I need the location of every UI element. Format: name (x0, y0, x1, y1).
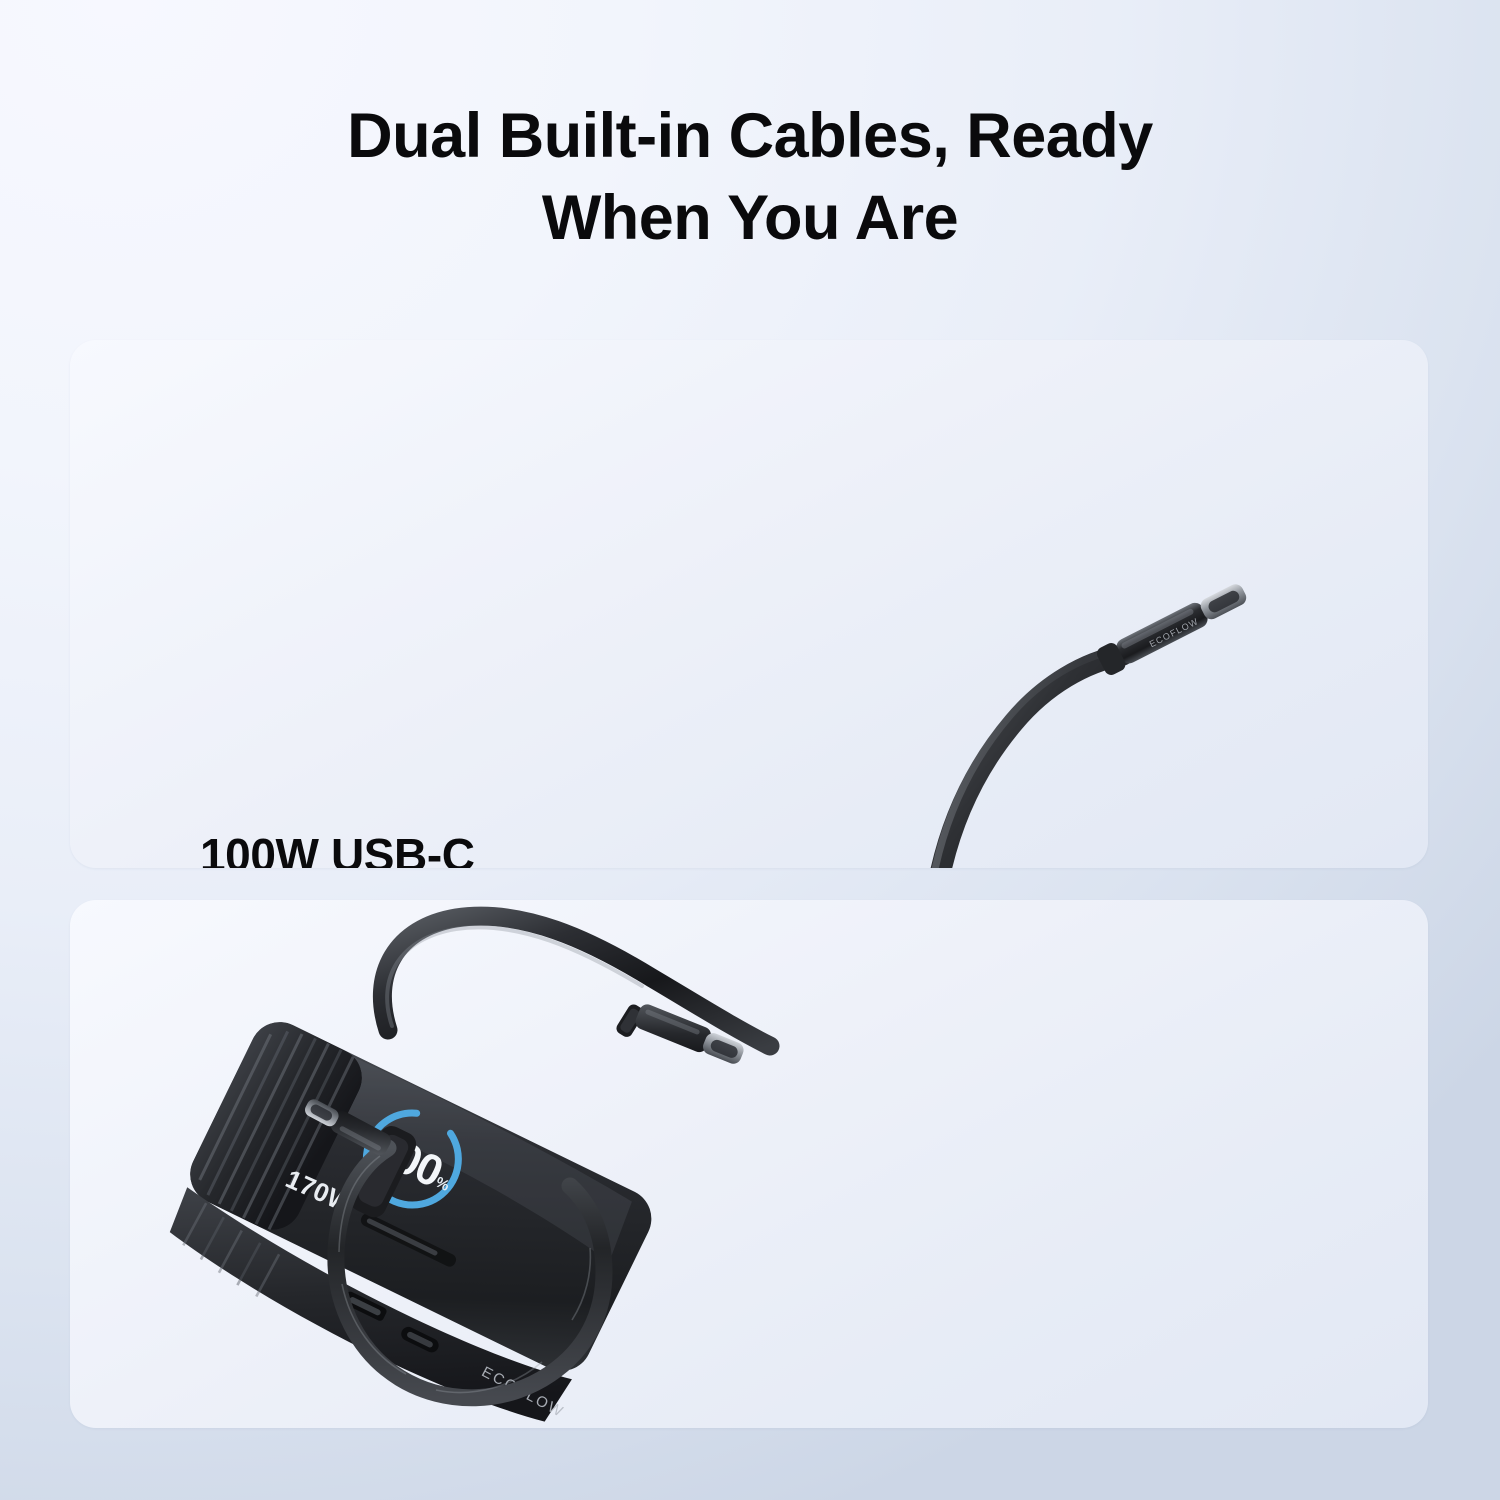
svg-text:ECOFLOW: ECOFLOW (1148, 616, 1201, 649)
page-title-line-1: Dual Built-in Cables, Ready (150, 96, 1350, 178)
product-illustration-lanyard: 100 % 170W / (70, 900, 1428, 1428)
svg-text:%: % (433, 1174, 452, 1195)
feature-card-retractable-cable: ECOFLOW (70, 340, 1428, 868)
feature-heading-retractable: 100W USB-C retractable cable (200, 828, 960, 868)
feature-card-lanyard-cable: 100 % 170W / (70, 900, 1428, 1428)
svg-text:ECOFLOW: ECOFLOW (479, 1363, 568, 1421)
svg-text:100: 100 (366, 1122, 449, 1196)
svg-text:170W: 170W (281, 1163, 357, 1219)
page-title: Dual Built-in Cables, Ready When You Are (0, 96, 1500, 260)
svg-text:/: / (343, 1206, 353, 1221)
infographic-canvas: Dual Built-in Cables, Ready When You Are (0, 0, 1500, 1500)
feature-text-retractable: 100W USB-C retractable cable Passed 20,0… (200, 828, 960, 868)
page-title-line-2: When You Are (150, 178, 1350, 260)
product-illustration-retractable: ECOFLOW (70, 340, 1428, 868)
